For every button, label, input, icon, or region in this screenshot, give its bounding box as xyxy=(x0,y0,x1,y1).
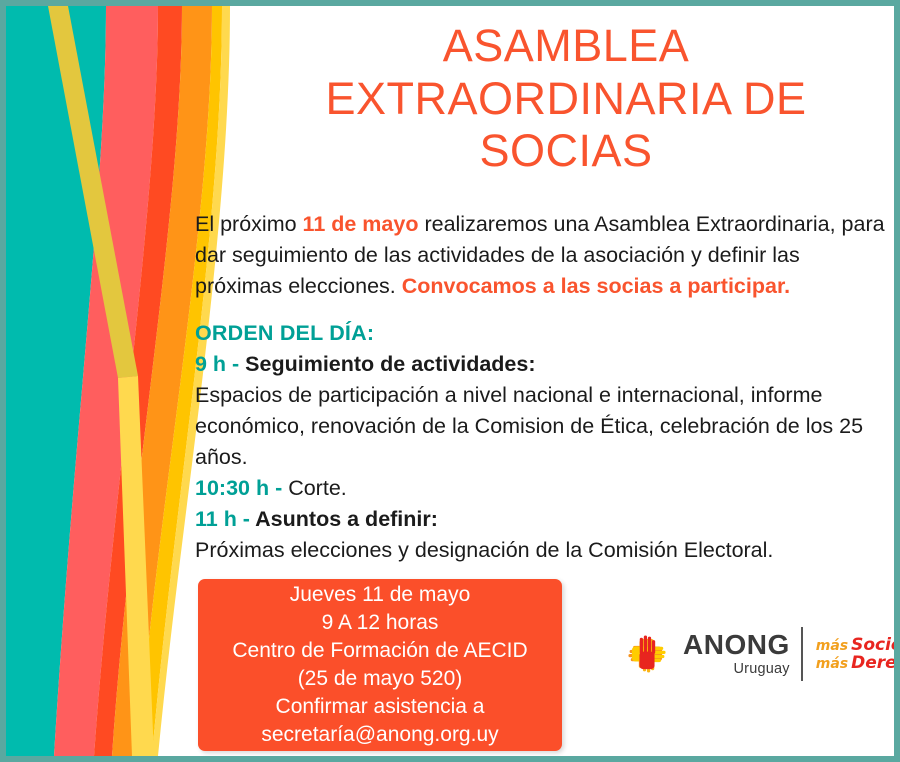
event-detail-line-2: 9 A 12 horas xyxy=(198,609,562,637)
event-contact-email[interactable]: secretaría@anong.org.uy xyxy=(198,721,562,749)
agenda-item-2-title: Corte. xyxy=(288,476,347,500)
event-detail-line-5: Confirmar asistencia a xyxy=(198,693,562,721)
event-detail-line-1: Jueves 11 de mayo xyxy=(198,581,562,609)
tagline-2-prefix: más xyxy=(816,656,848,672)
intro-part-1: El próximo xyxy=(195,212,303,236)
agenda-heading: ORDEN DEL DÍA: xyxy=(195,318,885,349)
poster-canvas: ASAMBLEA EXTRAORDINARIA DE SOCIAS El pró… xyxy=(0,0,900,762)
agenda-item-1-header: 9 h - Seguimiento de actividades: xyxy=(195,349,885,380)
agenda-item-3-header: 11 h - Asuntos a definir: xyxy=(195,504,885,535)
ribbon-band-teal xyxy=(6,6,106,756)
tagline-row-2: másDerechos xyxy=(816,654,900,672)
logo-tagline: másSociedad másDerechos xyxy=(816,636,900,673)
logo-country: Uruguay xyxy=(734,662,790,677)
anong-logo: ANONG Uruguay másSociedad másDerechos xyxy=(618,618,880,690)
agenda-item-1-time: 9 h - xyxy=(195,352,245,376)
ribbon-band-salmon xyxy=(54,6,158,756)
agenda-item-3-detail: Próximas elecciones y designación de la … xyxy=(195,535,885,566)
intro-call-to-action: Convocamos a las socias a participar. xyxy=(402,274,790,298)
event-detail-line-3: Centro de Formación de AECID xyxy=(198,637,562,665)
logo-divider xyxy=(801,627,803,681)
intro-date-highlight: 11 de mayo xyxy=(303,212,419,236)
ribbon-band-red-orange xyxy=(94,6,182,756)
tagline-row-1: másSociedad xyxy=(816,636,900,654)
tagline-2-word: Derechos xyxy=(851,653,900,673)
event-details-box: Jueves 11 de mayo 9 A 12 horas Centro de… xyxy=(198,579,562,751)
agenda-item-3-title: Asuntos a definir: xyxy=(255,507,438,531)
event-detail-line-4: (25 de mayo 520) xyxy=(198,665,562,693)
tagline-1-prefix: más xyxy=(816,638,848,654)
agenda-item-1-title: Seguimiento de actividades: xyxy=(245,352,535,376)
agenda-item-1-detail: Espacios de participación a nivel nacion… xyxy=(195,380,885,473)
title-line-1: ASAMBLEA xyxy=(256,20,876,73)
title-line-2: EXTRAORDINARIA DE xyxy=(256,73,876,126)
body-content: El próximo 11 de mayo realizaremos una A… xyxy=(195,209,885,565)
ribbon-band-dark-yellow-cross xyxy=(48,6,138,378)
logo-name: ANONG xyxy=(683,631,790,659)
intro-paragraph: El próximo 11 de mayo realizaremos una A… xyxy=(195,209,885,302)
page-title: ASAMBLEA EXTRAORDINARIA DE SOCIAS xyxy=(256,20,876,178)
ribbon-band-light-yellow-cross xyxy=(118,376,154,756)
anong-pinwheel-hands-icon xyxy=(618,625,676,683)
agenda-item-2-header: 10:30 h - Corte. xyxy=(195,473,885,504)
tagline-1-word: Sociedad xyxy=(851,635,900,655)
logo-wordmark: ANONG Uruguay xyxy=(683,631,790,677)
agenda-item-2-time: 10:30 h - xyxy=(195,476,288,500)
title-line-3: SOCIAS xyxy=(256,125,876,178)
agenda-item-3-time: 11 h - xyxy=(195,507,255,531)
